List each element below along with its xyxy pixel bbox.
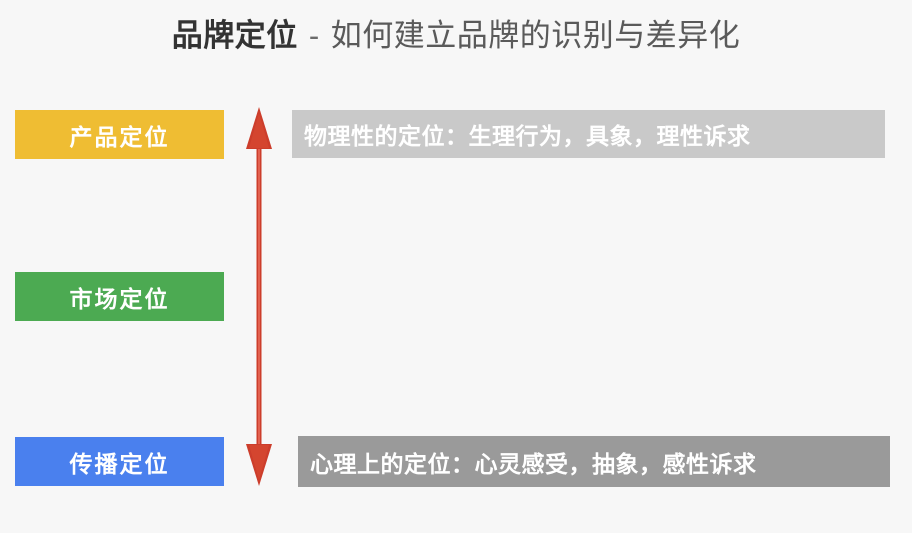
level-label-product-positioning: 产品定位 [70,118,170,152]
description-text-physical: 物理性的定位：生理行为，具象，理性诉求 [304,117,751,151]
page-title: 品牌定位 - 如何建立品牌的识别与差异化 [0,14,912,58]
level-label-market-positioning: 市场定位 [70,280,170,314]
description-bar-psychological: 心理上的定位：心灵感受，抽象，感性诉求 [298,436,890,487]
level-label-communication-positioning: 传播定位 [70,445,170,479]
slide-canvas: 品牌定位 - 如何建立品牌的识别与差异化 产品定位 市场定位 传播定位 物理性的… [0,0,912,533]
description-bar-physical: 物理性的定位：生理行为，具象，理性诉求 [292,110,885,158]
description-text-psychological: 心理上的定位：心灵感受，抽象，感性诉求 [310,445,757,479]
level-box-communication-positioning: 传播定位 [15,437,224,486]
vertical-double-arrow-icon [243,105,275,488]
page-title-strong: 品牌定位 [172,18,298,53]
level-box-market-positioning: 市场定位 [15,272,224,321]
page-title-rest: 如何建立品牌的识别与差异化 [331,18,741,53]
level-box-product-positioning: 产品定位 [15,110,224,159]
page-title-dash: - [307,18,322,53]
